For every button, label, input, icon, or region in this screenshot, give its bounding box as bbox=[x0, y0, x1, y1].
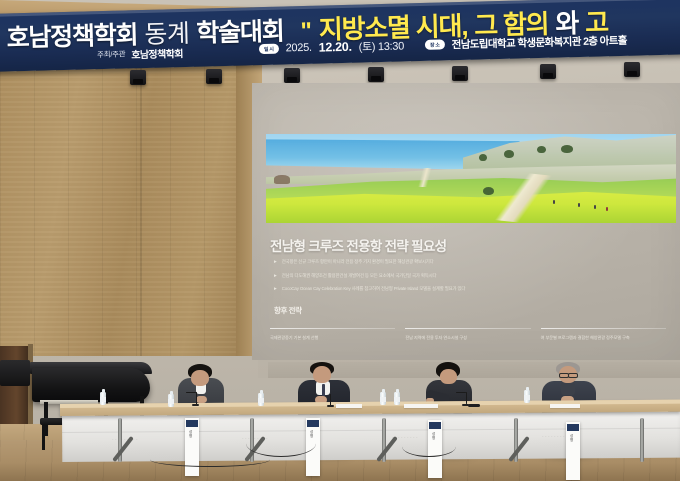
conference-hall-scene: 호남정책학회 동계 학술대회 " 지방소멸 시대, 그 함의 와 고 주최/주관… bbox=[0, 0, 680, 481]
bullet-marker-icon: ▸ bbox=[274, 272, 277, 280]
table-leg bbox=[640, 418, 644, 462]
microphone-base bbox=[327, 405, 334, 407]
banner-organizer-tag: 주최/주관 bbox=[97, 48, 125, 60]
slide-column-row: 국제관광중기 기본 설계 선행 전남 지역에 전용 투자 연소시설 구성 여 부… bbox=[270, 328, 666, 341]
panelist-sweater bbox=[561, 382, 575, 395]
panelist-hands bbox=[196, 396, 207, 403]
glasses-icon bbox=[568, 373, 578, 378]
floor-cable bbox=[150, 452, 270, 467]
ceiling-speaker bbox=[368, 67, 384, 82]
document-papers[interactable] bbox=[404, 404, 438, 408]
placard-4: 성 명 bbox=[566, 422, 580, 480]
photo-hiker bbox=[594, 205, 596, 209]
slide-bullet-text: 전국항은 신규 크루즈 항만이 아니라 전용 정주 기지 환경이 필요한 해상관… bbox=[282, 258, 434, 266]
document-papers[interactable] bbox=[336, 404, 362, 408]
banner-venue-text: 전남도립대학교 학생문화복지관 2층 아트홀 bbox=[451, 32, 627, 51]
ceiling-speaker bbox=[130, 70, 146, 85]
slide-bullet: ▸ CocoCay Ocean Cay Celebration Key 사례를 … bbox=[274, 285, 604, 293]
slide-bullet-text: CocoCay Ocean Cay Celebration Key 사례를 참고… bbox=[282, 285, 466, 293]
ceiling-speaker bbox=[206, 69, 222, 84]
placard-name-text: 성 명 bbox=[189, 430, 195, 439]
placard-header-band bbox=[307, 420, 319, 427]
bullet-marker-icon: ▸ bbox=[274, 285, 277, 293]
stage-monitor-speaker bbox=[0, 360, 30, 386]
column-rule bbox=[541, 328, 666, 329]
banner-date-main: 12.20. bbox=[319, 40, 352, 55]
banner-organizer-row: 주최/주관 호남정책학회 bbox=[97, 45, 183, 62]
document-papers[interactable] bbox=[550, 404, 580, 408]
floor-cable bbox=[246, 430, 316, 457]
water-bottle[interactable] bbox=[394, 392, 400, 405]
slide-column-text: 전남 지역에 전용 투자 연소시설 구성 bbox=[405, 335, 530, 341]
slide-bullet-text: 전남의 다도해권 해양조건 활용한건설 개발여건 등 모든 요소에서 국가단일 … bbox=[282, 272, 437, 280]
grand-piano bbox=[32, 368, 150, 402]
water-bottle[interactable] bbox=[258, 393, 264, 406]
water-bottle[interactable] bbox=[380, 392, 386, 405]
skirt-fold-line bbox=[62, 428, 680, 433]
photo-hiker bbox=[553, 200, 555, 204]
ceiling-speaker bbox=[624, 62, 640, 77]
slide-column-text: 국제관광중기 기본 설계 선행 bbox=[270, 335, 395, 341]
placard-1: 성 명 bbox=[185, 418, 199, 476]
table-skirt: · · · · · · · · · · · · · · · · · · · · … bbox=[62, 412, 680, 462]
panelist-head bbox=[313, 366, 331, 383]
panelist-head bbox=[440, 369, 457, 384]
ceiling-speaker bbox=[540, 64, 556, 79]
slide-column-text: 여 부문별 프로그램과 결합한 해양관광 정주모델 구축 bbox=[541, 335, 666, 341]
placard-name-text: 성 명 bbox=[570, 434, 576, 443]
slide-column: 전남 지역에 전용 투자 연소시설 구성 bbox=[405, 328, 530, 341]
water-bottle[interactable] bbox=[168, 394, 174, 407]
photo-rock bbox=[274, 175, 290, 184]
placard-header-band bbox=[429, 422, 441, 429]
panelist-tie bbox=[322, 384, 325, 396]
microphone-base bbox=[192, 404, 199, 406]
photo-tree bbox=[561, 145, 573, 153]
photo-hiker bbox=[578, 203, 580, 207]
slide-bullet-list: ▸ 전국항은 신규 크루즈 항만이 아니라 전용 정주 기지 환경이 필요한 해… bbox=[274, 258, 604, 299]
column-rule bbox=[405, 328, 530, 329]
water-bottle[interactable] bbox=[100, 392, 106, 405]
banner-date-prefix: 2025. bbox=[286, 42, 312, 55]
bench-leg bbox=[42, 424, 45, 450]
ceiling-speaker bbox=[284, 68, 300, 83]
microphone-neck bbox=[186, 392, 196, 393]
projection-screen: 전남형 크루즈 전용항 전략 필요성 ▸ 전국항은 신규 크루즈 항만이 아니라… bbox=[252, 83, 680, 360]
floor-cable bbox=[402, 436, 456, 457]
slide-title: 전남형 크루즈 전용항 전략 필요성 bbox=[270, 235, 446, 255]
slide-bullet: ▸ 전남의 다도해권 해양조건 활용한건설 개발여건 등 모든 요소에서 국가단… bbox=[274, 272, 604, 280]
bullet-marker-icon: ▸ bbox=[274, 258, 277, 266]
microphone-neck bbox=[456, 392, 466, 393]
photo-tree bbox=[479, 154, 487, 161]
ceiling-speaker-row bbox=[0, 66, 680, 84]
remote-control[interactable] bbox=[468, 404, 480, 407]
coastal-rapeseed-field-photo bbox=[266, 134, 676, 223]
slide-bullet: ▸ 전국항은 신규 크루즈 항만이 아니라 전용 정주 기지 환경이 필요한 해… bbox=[274, 258, 604, 266]
column-rule bbox=[270, 328, 395, 329]
panelist-head bbox=[191, 370, 209, 386]
placard-header-band bbox=[567, 424, 579, 431]
banner-organizer-name: 호남정책학회 bbox=[131, 45, 183, 61]
placard-header-band bbox=[186, 420, 198, 427]
banner-date-suffix: (토) 13:30 bbox=[358, 37, 404, 54]
slide-column: 여 부문별 프로그램과 결합한 해양관광 정주모델 구축 bbox=[541, 328, 666, 341]
water-bottle[interactable] bbox=[524, 390, 530, 403]
banner-date-tag: 일 시 bbox=[259, 44, 279, 54]
ceiling-speaker bbox=[452, 66, 468, 81]
gooseneck-microphone[interactable] bbox=[466, 392, 467, 404]
photo-tree bbox=[537, 146, 546, 153]
photo-tree bbox=[504, 150, 514, 158]
slide-section-heading: 향후 전략 bbox=[274, 305, 302, 316]
slide-column: 국제관광중기 기본 설계 선행 bbox=[270, 328, 395, 341]
banner-venue-tag: 장 소 bbox=[425, 39, 445, 49]
